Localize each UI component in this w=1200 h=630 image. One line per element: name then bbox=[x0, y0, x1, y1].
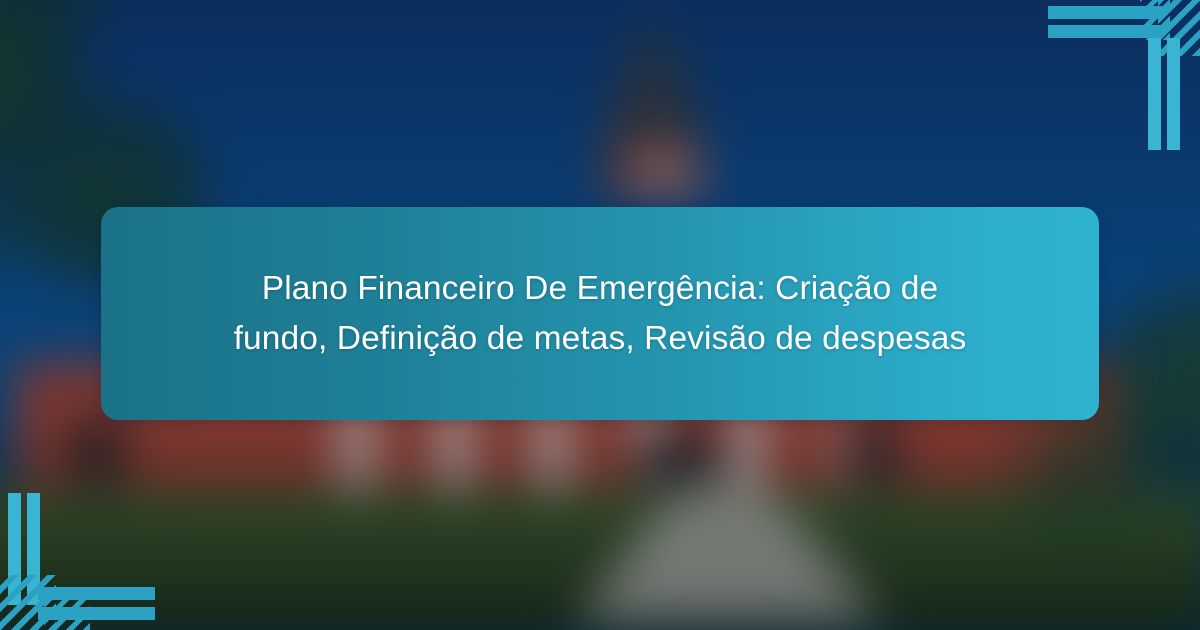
deco-bar-horizontal bbox=[38, 587, 155, 600]
deco-bar-horizontal bbox=[38, 607, 155, 620]
page-title-line-2: fundo, Definição de metas, Revisão de de… bbox=[170, 314, 1030, 364]
page-title: Plano Financeiro De Emergência: Criação … bbox=[170, 264, 1030, 364]
page-title-line-1: Plano Financeiro De Emergência: Criação … bbox=[170, 264, 1030, 314]
deco-bar-vertical bbox=[1167, 38, 1180, 150]
banner-canvas: Plano Financeiro De Emergência: Criação … bbox=[0, 0, 1200, 630]
corner-bracket-top-right bbox=[1030, 0, 1200, 160]
deco-bar-vertical bbox=[1148, 38, 1161, 150]
deco-bar-horizontal bbox=[1048, 6, 1162, 19]
corner-bracket-bottom-left bbox=[0, 465, 170, 630]
deco-bar-horizontal bbox=[1048, 25, 1162, 38]
title-card: Plano Financeiro De Emergência: Criação … bbox=[101, 207, 1099, 420]
